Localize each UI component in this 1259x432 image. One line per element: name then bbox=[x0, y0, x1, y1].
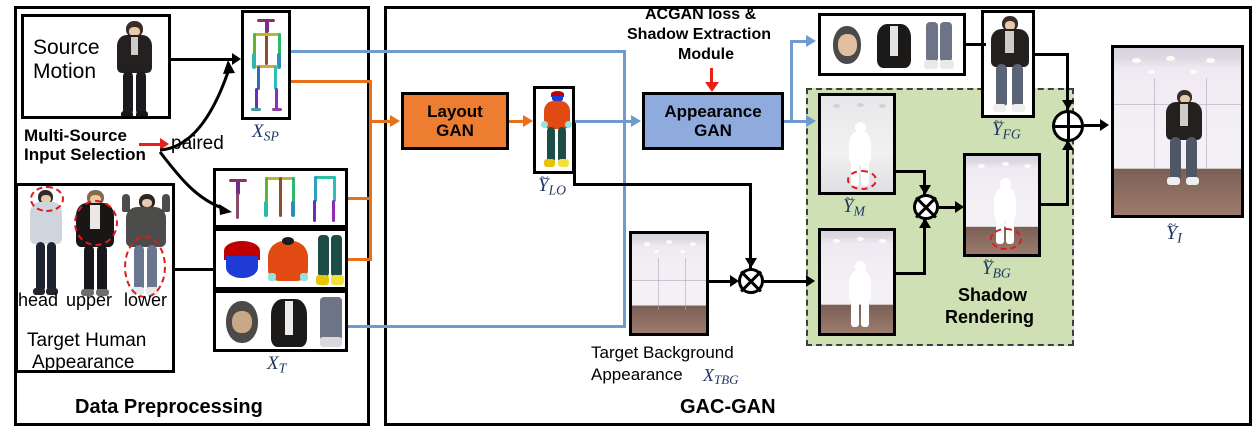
red-circle-upper bbox=[74, 200, 118, 246]
generated-parts-image bbox=[818, 13, 966, 76]
black-yfg-right bbox=[1035, 53, 1068, 56]
red-circle-head bbox=[30, 186, 64, 212]
x-t-row-appearance bbox=[213, 290, 348, 352]
curve-paired-to-xt bbox=[150, 152, 245, 222]
curve-paired-to-xsp bbox=[150, 58, 245, 153]
y-bg-image bbox=[963, 153, 1041, 257]
masked-background-image bbox=[818, 228, 896, 336]
blue-arrow-appearance-in bbox=[631, 115, 641, 127]
gac-gan-title: GAC-GAN bbox=[680, 396, 776, 419]
black-arrow-add-bottom bbox=[1062, 140, 1074, 150]
layout-gan-label-line1: Layout bbox=[427, 102, 483, 121]
blue-flow-top-vert bbox=[623, 50, 626, 121]
layout-gan-label-line2: GAN bbox=[436, 121, 474, 140]
black-ym-right bbox=[896, 170, 926, 173]
y-fg-image bbox=[981, 10, 1035, 118]
orange-arrow-layout-in bbox=[390, 115, 400, 127]
multi-source-label-line1: Multi-Source bbox=[24, 126, 127, 146]
blue-flow-bottom-vert bbox=[623, 122, 626, 328]
y-i-tilde: ~ bbox=[1168, 218, 1176, 235]
orange-flow-vert bbox=[369, 80, 372, 122]
x-tbg-label: XTBG bbox=[703, 365, 738, 388]
black-arrow-shadow-multiply-top bbox=[919, 185, 931, 195]
acgan-label-line2: Shadow Extraction bbox=[627, 26, 771, 44]
multiply-op-shadow bbox=[913, 194, 939, 220]
black-ylo-right bbox=[573, 183, 749, 186]
black-ylo-down bbox=[573, 123, 576, 185]
red-circle-shadow-ybg bbox=[990, 228, 1022, 250]
blue-arrow-ym bbox=[806, 115, 816, 127]
x-sp-skeleton-image bbox=[241, 10, 291, 120]
y-m-image bbox=[818, 93, 896, 195]
source-motion-label-line2: Motion bbox=[33, 60, 96, 84]
black-parts-to-yfg bbox=[966, 43, 986, 46]
appearance-gan-label-line2: GAN bbox=[694, 121, 732, 140]
black-arrow-maskedbg bbox=[806, 275, 815, 287]
acgan-arrow-head bbox=[705, 82, 719, 92]
connector-target-to-xt bbox=[175, 268, 215, 271]
orange-flow-vert3 bbox=[369, 120, 372, 261]
black-maskedbg-right bbox=[896, 272, 926, 275]
black-multiply-to-maskedbg bbox=[764, 280, 809, 283]
black-arrow-final bbox=[1100, 119, 1109, 131]
black-arrow-add-top bbox=[1062, 100, 1074, 110]
orange-arrow-ylo bbox=[523, 115, 533, 127]
target-human-label-line2: Appearance bbox=[32, 352, 134, 374]
blue-appearance-out-vert bbox=[790, 40, 793, 122]
black-ybg-right bbox=[1041, 203, 1068, 206]
blue-flow-top bbox=[291, 50, 626, 53]
target-human-label-line1: Target Human bbox=[27, 330, 146, 352]
blue-flow-bottom bbox=[348, 325, 626, 328]
figure-canvas: Data Preprocessing Source Motion Multi-S… bbox=[0, 0, 1259, 432]
orange-flow-into-layout bbox=[369, 120, 391, 123]
y-fg-tilde: ~ bbox=[994, 115, 1002, 132]
y-i-image bbox=[1111, 45, 1244, 218]
black-arrow-multiply-top bbox=[745, 258, 757, 268]
layout-gan-box[interactable]: Layout GAN bbox=[401, 92, 509, 150]
black-to-multiply-vert bbox=[749, 183, 752, 269]
y-bg-tilde: ~ bbox=[984, 254, 992, 271]
appearance-gan-label-line1: Appearance bbox=[664, 102, 761, 121]
multiply-op-background bbox=[738, 268, 764, 294]
shadow-rendering-label-line1: Shadow bbox=[958, 285, 1027, 306]
red-circle-shadow-ym bbox=[847, 170, 877, 190]
target-bg-label-line2: Appearance bbox=[591, 365, 683, 385]
blue-arrow-parts bbox=[806, 35, 816, 47]
y-lo-image bbox=[533, 86, 575, 174]
acgan-label-line3: Module bbox=[678, 46, 734, 64]
source-motion-label-line1: Source bbox=[33, 36, 100, 60]
x-t-row-layout bbox=[213, 228, 348, 290]
y-lo-tilde: ~ bbox=[540, 171, 548, 188]
red-circle-lower bbox=[124, 236, 166, 298]
target-bg-label-line1: Target Background bbox=[591, 343, 734, 363]
x-tbg-image bbox=[629, 231, 709, 336]
blue-appearance-out bbox=[784, 120, 806, 123]
add-op bbox=[1052, 110, 1084, 142]
y-m-tilde: ~ bbox=[845, 192, 853, 209]
appearance-gan-box[interactable]: Appearance GAN bbox=[642, 92, 784, 150]
acgan-label-line1: ACGAN loss & bbox=[645, 6, 756, 24]
part-label-upper: upper bbox=[66, 290, 112, 311]
black-arrow-shadow-multiply-bottom bbox=[919, 218, 931, 228]
data-preprocessing-title: Data Preprocessing bbox=[75, 396, 263, 419]
x-t-label: XT bbox=[267, 353, 286, 376]
multi-source-label-line2: Input Selection bbox=[24, 145, 146, 165]
shadow-rendering-label-line2: Rendering bbox=[945, 307, 1034, 328]
x-sp-label: XSP bbox=[252, 121, 279, 144]
black-arrow-multiply-left bbox=[730, 275, 739, 287]
orange-flow-top bbox=[291, 80, 372, 83]
part-label-head: head bbox=[18, 290, 58, 311]
blue-ylo-to-appearance bbox=[575, 120, 635, 123]
part-label-lower: lower bbox=[124, 290, 167, 311]
black-arrow-ybg bbox=[955, 201, 964, 213]
